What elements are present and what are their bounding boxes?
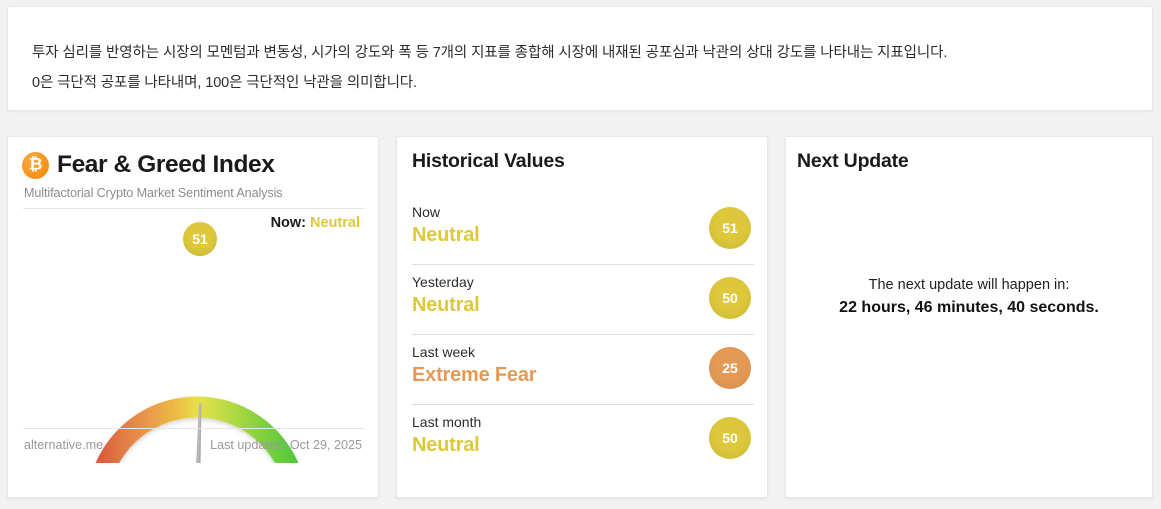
next-update-body: The next update will happen in: 22 hours… <box>786 277 1152 317</box>
list-item: Last week Extreme Fear 25 <box>412 335 754 405</box>
historical-values-list: Now Neutral 51 Yesterday Neutral 50 Last… <box>412 195 754 475</box>
next-update-card: Next Update The next update will happen … <box>785 136 1153 498</box>
fear-greed-gauge-card: ₿ Fear & Greed Index Multifactorial Cryp… <box>7 136 379 498</box>
history-classification: Neutral <box>412 434 480 457</box>
description-line-2: 0은 극단적 공포를 나타내며, 100은 극단적인 낙관을 의미합니다. <box>32 71 417 92</box>
list-item: Yesterday Neutral 50 <box>412 265 754 335</box>
history-value-badge: 51 <box>709 207 751 249</box>
history-classification: Neutral <box>412 294 480 317</box>
footer-divider <box>23 428 365 429</box>
header-divider <box>23 208 365 209</box>
next-update-countdown: 22 hours, 46 minutes, 40 seconds. <box>786 299 1152 317</box>
bitcoin-glyph: ₿ <box>29 156 43 173</box>
list-item: Now Neutral 51 <box>412 195 754 265</box>
next-update-title: Next Update <box>797 150 909 173</box>
last-updated-label: Last updated: Oct 29, 2025 <box>210 438 362 452</box>
history-value-badge: 50 <box>709 277 751 319</box>
historical-values-card: Historical Values Now Neutral 51 Yesterd… <box>396 136 768 498</box>
source-attribution[interactable]: alternative.me <box>24 438 103 452</box>
history-classification: Extreme Fear <box>412 364 536 387</box>
history-period: Yesterday <box>412 274 474 290</box>
list-item: Last month Neutral 50 <box>412 405 754 475</box>
historical-values-title: Historical Values <box>412 150 565 173</box>
history-period: Last week <box>412 344 475 360</box>
history-value-badge: 25 <box>709 347 751 389</box>
description-banner: 투자 심리를 반영하는 시장의 모멘텀과 변동성, 시가의 강도와 폭 등 7개… <box>7 6 1153 111</box>
fear-greed-header: ₿ Fear & Greed Index <box>22 151 274 179</box>
fear-greed-subtitle: Multifactorial Crypto Market Sentiment A… <box>24 186 282 200</box>
page-title: Fear & Greed Index <box>57 151 274 179</box>
history-classification: Neutral <box>412 224 480 247</box>
next-update-prompt: The next update will happen in: <box>786 277 1152 293</box>
description-line-1: 투자 심리를 반영하는 시장의 모멘텀과 변동성, 시가의 강도와 폭 등 7개… <box>32 41 947 62</box>
history-period: Last month <box>412 414 481 430</box>
bitcoin-icon: ₿ <box>22 152 49 179</box>
history-period: Now <box>412 204 440 220</box>
history-value-badge: 50 <box>709 417 751 459</box>
gauge-value-badge: 51 <box>183 222 217 256</box>
gauge-chart: 51 <box>8 213 380 463</box>
page-root: 투자 심리를 반영하는 시장의 모멘텀과 변동성, 시가의 강도와 폭 등 7개… <box>0 0 1161 509</box>
